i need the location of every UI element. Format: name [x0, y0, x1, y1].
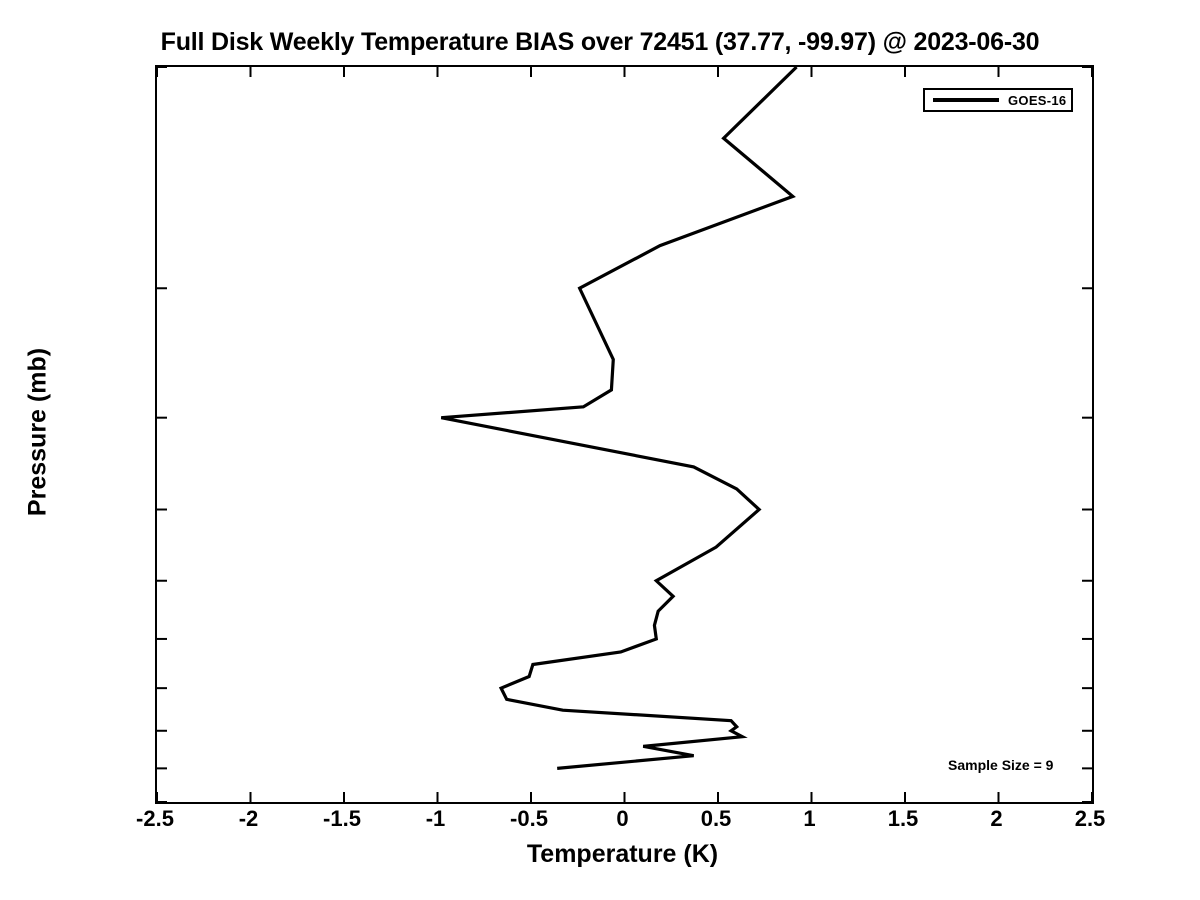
plot-area — [155, 65, 1094, 804]
plot-canvas — [157, 67, 1092, 802]
chart-figure: Full Disk Weekly Temperature BIAS over 7… — [0, 0, 1200, 900]
x-axis-label: Temperature (K) — [155, 840, 1090, 869]
x-tick-label: -0.5 — [510, 806, 548, 832]
legend-line-swatch — [933, 98, 999, 102]
y-axis-label: Pressure (mb) — [24, 348, 53, 516]
sample-size-annotation: Sample Size = 9 — [948, 757, 1053, 773]
data-series-group — [441, 67, 796, 768]
x-tick-label: 0.5 — [701, 806, 732, 832]
legend: GOES-16 — [923, 88, 1073, 112]
legend-item-label: GOES-16 — [1008, 93, 1066, 108]
x-tick-label: 1 — [803, 806, 815, 832]
x-tick-label: -2 — [239, 806, 259, 832]
x-tick-label: 0 — [616, 806, 628, 832]
x-tick-label: 1.5 — [888, 806, 919, 832]
series-line-GOES-16 — [441, 67, 796, 768]
x-tick-label: -1 — [426, 806, 446, 832]
page-title: Full Disk Weekly Temperature BIAS over 7… — [0, 28, 1200, 57]
x-tick-label: -1.5 — [323, 806, 361, 832]
x-tick-label: -2.5 — [136, 806, 174, 832]
axis-tick-marks — [157, 67, 1092, 802]
x-tick-label: 2.5 — [1075, 806, 1106, 832]
x-tick-label: 2 — [990, 806, 1002, 832]
